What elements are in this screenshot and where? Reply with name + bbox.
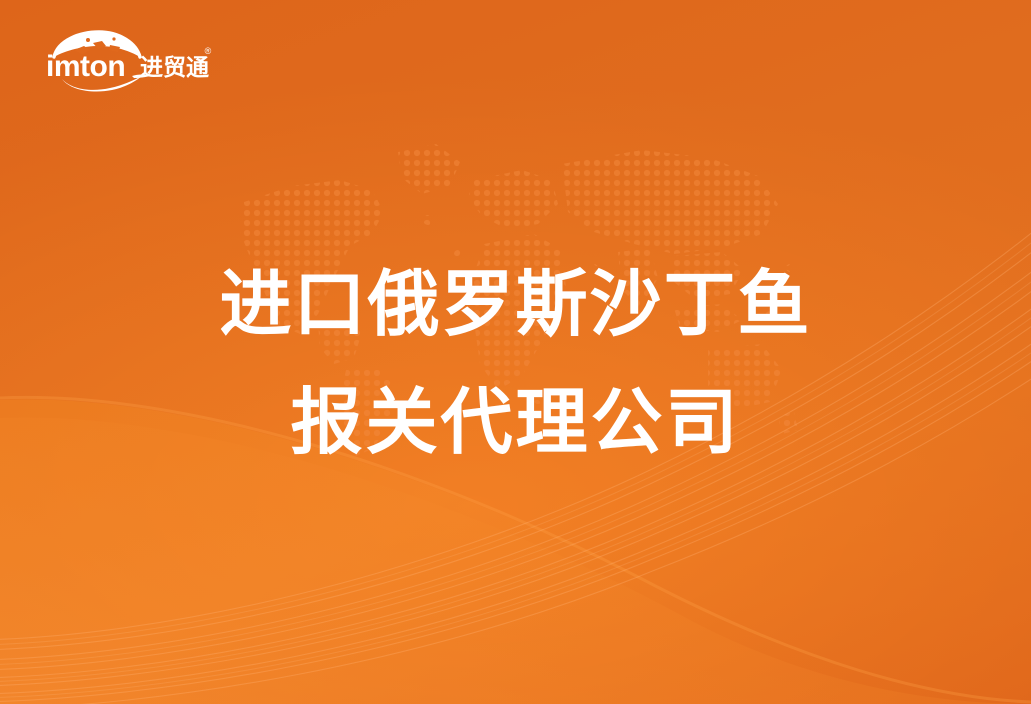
imton-logo[interactable]: imton 进贸通 ® <box>44 30 214 92</box>
headline-block: 进口俄罗斯沙丁鱼 报关代理公司 <box>0 246 1031 482</box>
logo-chinese-name: 进贸通 <box>140 54 209 80</box>
headline-line-2: 报关代理公司 <box>0 364 1031 482</box>
trademark-symbol: ® <box>205 46 212 56</box>
headline-line-1: 进口俄罗斯沙丁鱼 <box>0 246 1031 364</box>
promo-banner: imton 进贸通 ® 进口俄罗斯沙丁鱼 报关代理公司 <box>0 0 1031 704</box>
logo-wordmark: imton <box>46 50 125 83</box>
